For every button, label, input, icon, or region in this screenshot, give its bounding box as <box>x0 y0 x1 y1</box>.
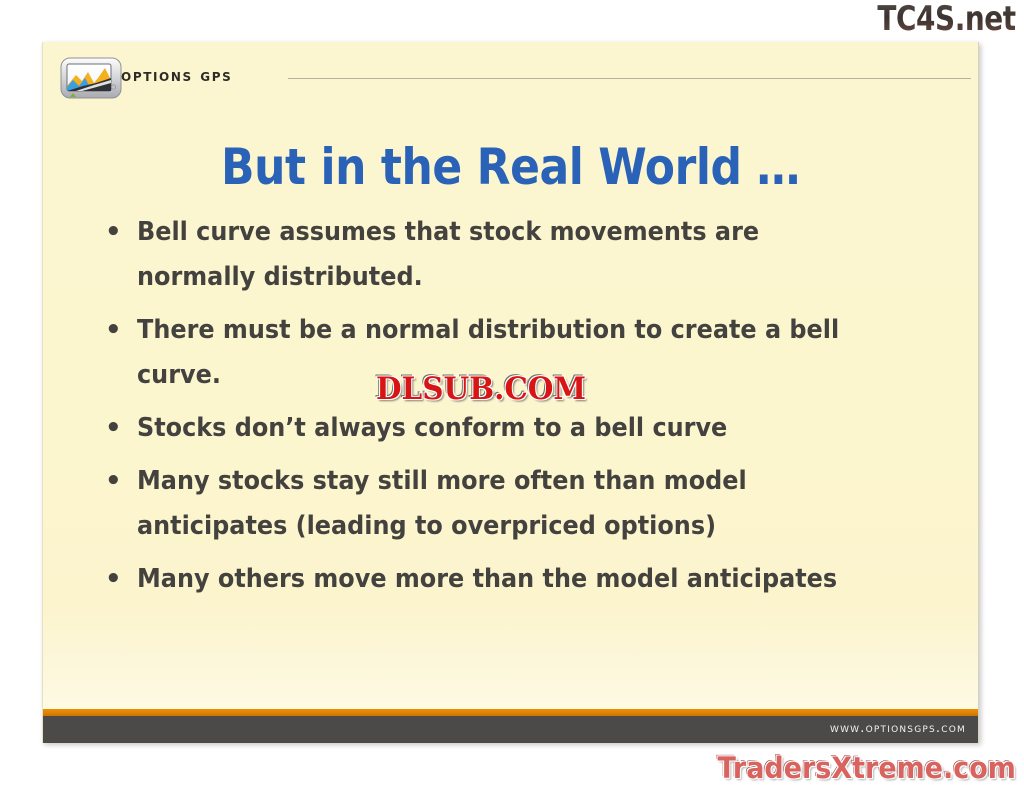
options-gps-wordmark: Options GPS <box>121 66 232 86</box>
slide-footer-bar: www.OptionsGPS.com <box>43 716 978 743</box>
bullet-text: Many others move more than the model ant… <box>137 557 876 602</box>
bullet-text: Stocks don’t always conform to a bell cu… <box>137 406 876 451</box>
list-item: Many others move more than the model ant… <box>95 557 940 602</box>
slide-header: Options GPS <box>43 42 978 100</box>
slide-bullet-list: Bell curve assumes that stock movements … <box>95 210 940 610</box>
bullet-text: Bell curve assumes that stock movements … <box>137 210 876 300</box>
list-item: Stocks don’t always conform to a bell cu… <box>95 406 940 451</box>
gps-device-icon <box>60 56 122 100</box>
dlsub-watermark: DLSUB.COM <box>376 372 586 406</box>
header-divider-rule <box>288 78 971 79</box>
tc4s-brand-wordmark: TC4S.net <box>878 1 1016 37</box>
footer-url-text: www.OptionsGPS.com <box>830 721 966 736</box>
list-item: Bell curve assumes that stock movements … <box>95 210 940 300</box>
footer-accent-stripe <box>43 709 978 716</box>
bullet-text: Many stocks stay still more often than m… <box>137 459 876 549</box>
list-item: Many stocks stay still more often than m… <box>95 459 940 549</box>
tradersxtreme-brand-wordmark: TradersXtreme.com <box>718 752 1016 784</box>
slide-title: But in the Real World … <box>99 138 922 196</box>
